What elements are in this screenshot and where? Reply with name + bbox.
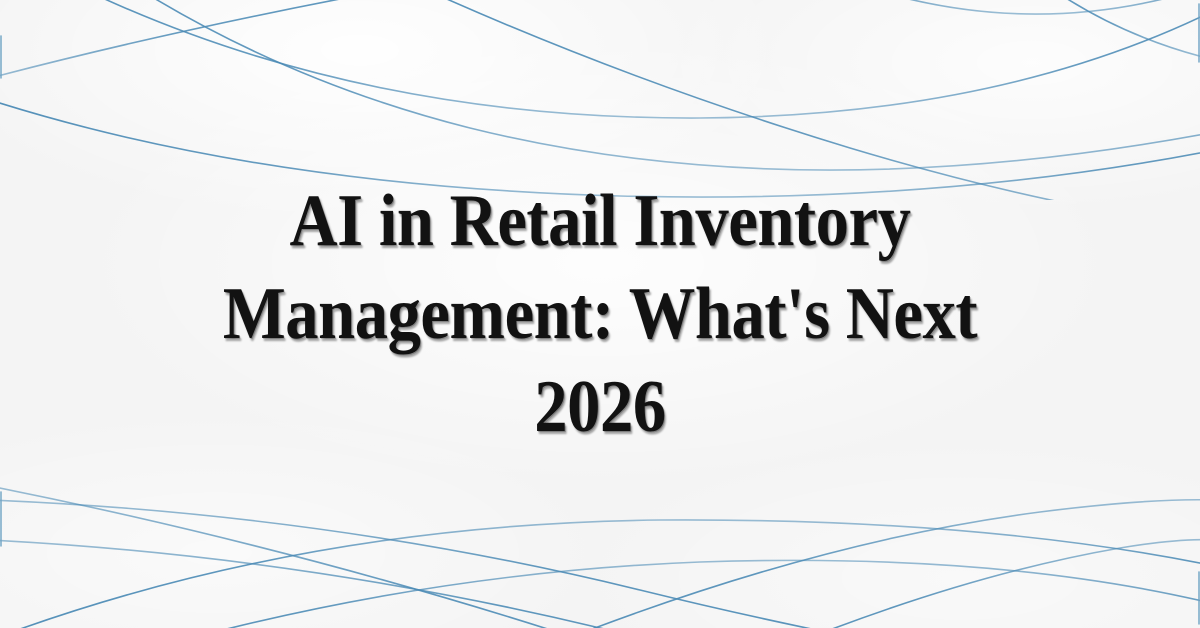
title-block: AI in Retail Inventory Management: What'… <box>0 0 1200 628</box>
hero-banner-card: AI in Retail Inventory Management: What'… <box>0 0 1200 628</box>
page-title: AI in Retail Inventory Management: What'… <box>150 175 1050 454</box>
